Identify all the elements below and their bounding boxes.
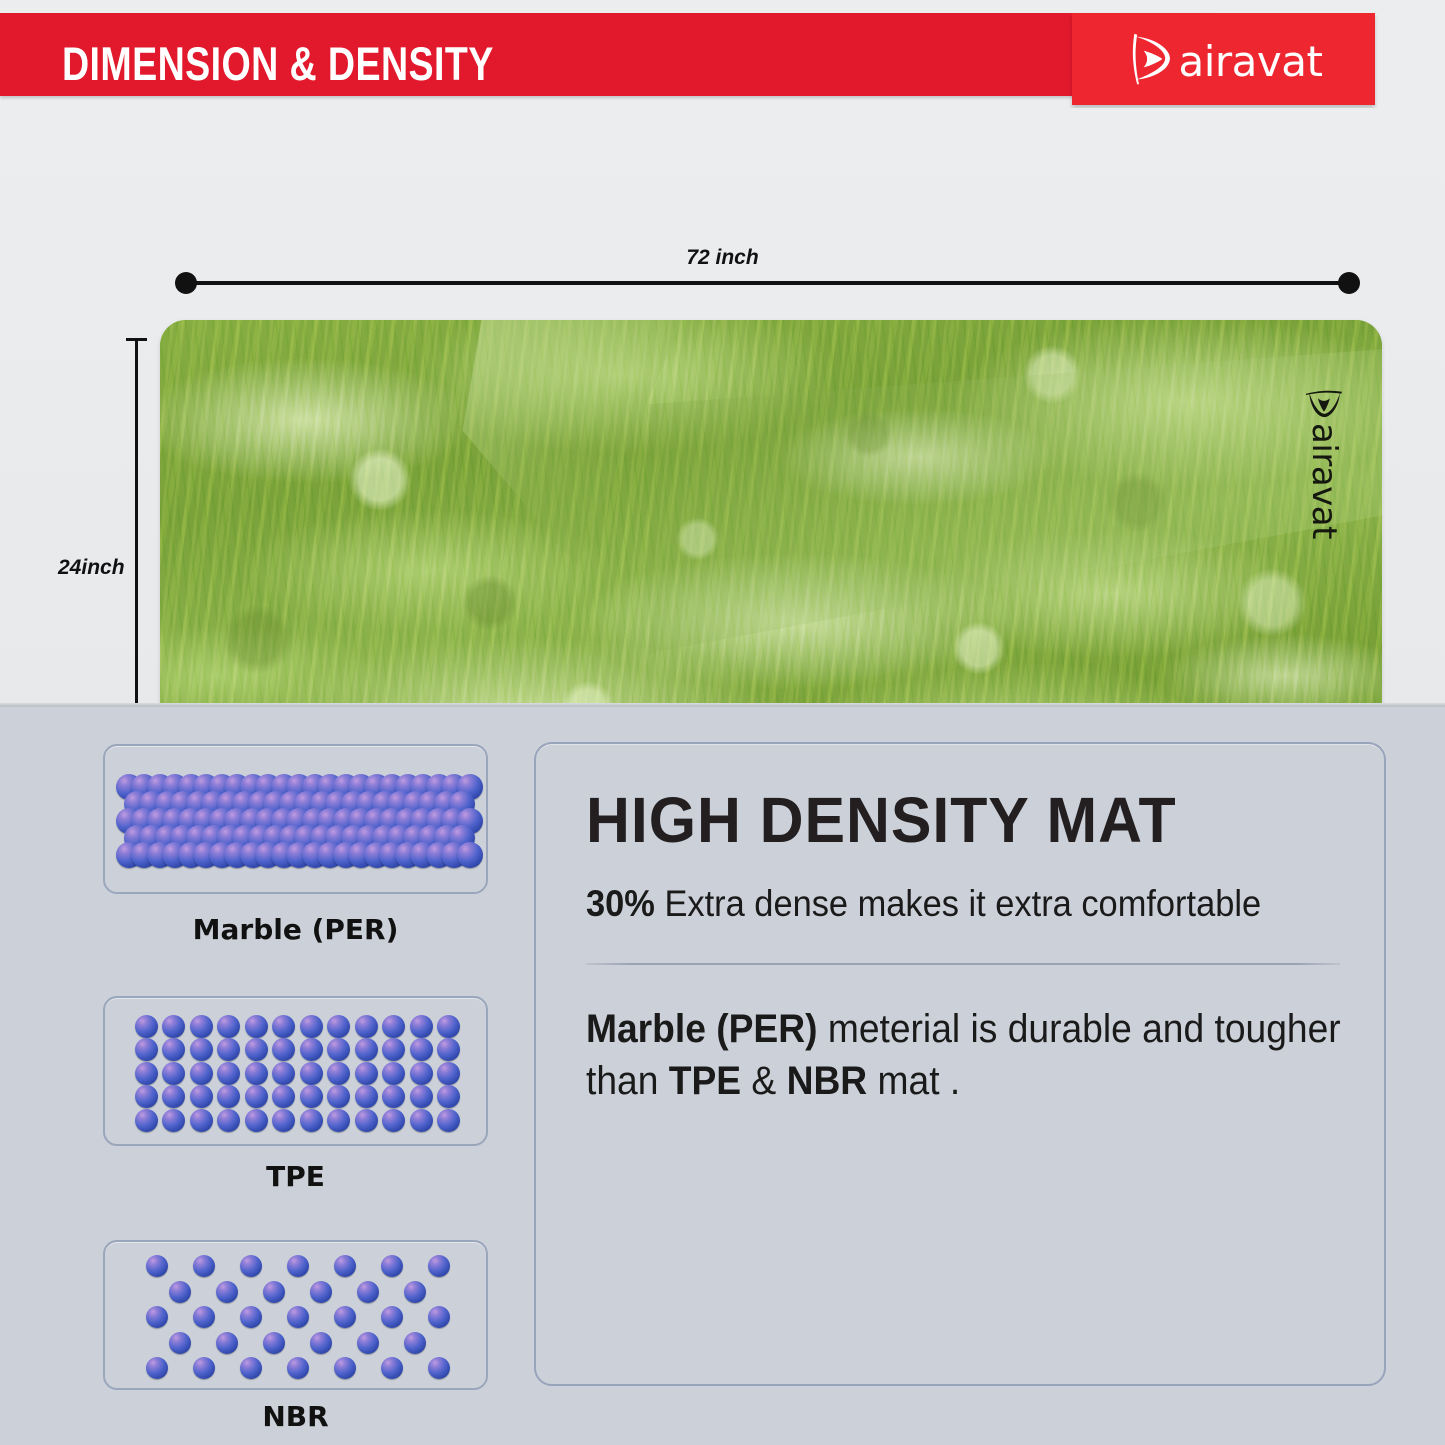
density-bead [382,1109,405,1132]
page-title: DIMENSION & DENSITY [62,36,494,91]
width-dimension-label: 72 inch [0,246,1445,270]
brand-logo-word: airavat [1179,37,1323,86]
density-bead [217,1062,240,1085]
density-bead [272,1062,295,1085]
density-bead [217,1085,240,1108]
mat-watermark-logo: airavat [1282,346,1366,578]
airavat-bow-icon [1303,385,1345,425]
density-bead [190,1109,213,1132]
density-bead [381,1255,403,1277]
density-bead [382,1062,405,1085]
density-bead [404,1281,426,1303]
panel-para2-tail: mat . [867,1059,960,1103]
density-bead [410,1015,433,1038]
density-bead [216,1332,238,1354]
panel-divider [586,963,1340,965]
density-bead [193,1255,215,1277]
density-bead [272,1109,295,1132]
density-bead [169,1281,191,1303]
density-bead [190,1062,213,1085]
density-card-marble [103,744,488,894]
density-bead [245,1015,268,1038]
density-bead [300,1085,323,1108]
density-bead [245,1085,268,1108]
density-bead [410,1085,433,1108]
panel-paragraph-one: 30% Extra dense makes it extra comfortab… [586,880,1343,927]
airavat-bow-icon [1125,30,1181,88]
density-bead [382,1015,405,1038]
density-bead [310,1281,332,1303]
density-bead [287,1255,309,1277]
panel-para2-mid2: & [741,1059,786,1103]
density-bead [162,1085,185,1108]
density-bead [272,1038,295,1061]
density-bead [428,1306,450,1328]
density-bead [382,1038,405,1061]
density-card-tpe [103,996,488,1146]
density-bead [146,1306,168,1328]
density-bead [334,1255,356,1277]
density-bead [162,1038,185,1061]
mat-watermark-word: airavat [1304,423,1344,539]
bead-field-nbr [105,1242,486,1388]
density-label-marble: Marble (PER) [103,913,488,946]
panel-paragraph-two: Marble (PER) meterial is durable and tou… [586,1003,1343,1107]
density-bead [355,1085,378,1108]
density-bead [263,1332,285,1354]
width-dimension-line [184,281,1348,285]
header-zone: DIMENSION & DENSITY airavat [0,0,1445,108]
density-bead [135,1015,158,1038]
density-bead [135,1038,158,1061]
dimension-section: 72 inch 24inch airavat [0,108,1445,705]
density-bead [355,1038,378,1061]
density-bead [310,1332,332,1354]
density-bead [216,1281,238,1303]
density-bead [437,1015,460,1038]
density-bead [193,1306,215,1328]
density-label-tpe: TPE [103,1160,488,1193]
density-bead [190,1015,213,1038]
density-bead [381,1357,403,1379]
density-bead [135,1109,158,1132]
density-bead [327,1109,350,1132]
density-bead [245,1038,268,1061]
density-bead [193,1357,215,1379]
density-bead [437,1109,460,1132]
brand-logo: airavat [1072,13,1375,105]
density-bead [410,1038,433,1061]
density-bead [300,1109,323,1132]
density-bead [355,1109,378,1132]
density-bead [428,1255,450,1277]
density-bead [327,1062,350,1085]
density-bead [287,1357,309,1379]
header-red-bar: DIMENSION & DENSITY [0,13,1215,96]
density-bead [300,1062,323,1085]
density-bead [428,1357,450,1379]
density-bead [410,1062,433,1085]
density-bead [217,1109,240,1132]
density-bead [357,1332,379,1354]
density-bead [135,1062,158,1085]
density-bead [327,1038,350,1061]
density-bead [272,1015,295,1038]
density-bead [327,1015,350,1038]
panel-title: HIGH DENSITY MAT [586,788,1302,852]
bead-field-marble [105,746,486,892]
density-bead [263,1281,285,1303]
density-bead [334,1357,356,1379]
panel-para2-tpe: TPE [669,1059,741,1103]
density-bead [287,1306,309,1328]
density-label-nbr: NBR [103,1400,488,1433]
density-bead [300,1038,323,1061]
panel-para2-nbr: NBR [787,1059,868,1103]
panel-para1-text: Extra dense makes it extra comfortable [655,883,1261,924]
panel-para2-marble: Marble (PER) [586,1007,818,1051]
density-bead [245,1062,268,1085]
density-bead [245,1109,268,1132]
density-bead [437,1038,460,1061]
density-bead [169,1332,191,1354]
panel-para1-highlight: 30% [586,883,655,924]
density-bead [135,1085,158,1108]
density-bead [437,1062,460,1085]
width-dimension-endpoint-right [1338,272,1360,294]
density-bead [146,1255,168,1277]
height-dimension-label: 24inch [58,556,125,580]
density-bead [190,1085,213,1108]
density-bead [355,1015,378,1038]
density-bead [357,1281,379,1303]
density-bead [382,1085,405,1108]
density-bead [162,1109,185,1132]
density-bead [410,1109,433,1132]
bead-field-tpe [105,998,486,1144]
density-bead [327,1085,350,1108]
density-bead [272,1085,295,1108]
density-bead [217,1038,240,1061]
density-bead [355,1062,378,1085]
density-bead [457,842,483,868]
density-bead [146,1357,168,1379]
density-bead [240,1255,262,1277]
density-bead [240,1306,262,1328]
density-bead [334,1306,356,1328]
density-card-nbr [103,1240,488,1390]
density-bead [217,1015,240,1038]
density-bead [300,1015,323,1038]
density-bead [190,1038,213,1061]
density-bead [162,1015,185,1038]
height-dimension-cap-top [126,338,147,341]
density-bead [240,1357,262,1379]
density-bead [404,1332,426,1354]
width-dimension-endpoint-left [175,272,197,294]
density-bead [381,1306,403,1328]
high-density-text-panel: HIGH DENSITY MAT 30% Extra dense makes i… [534,742,1386,1386]
density-bead [162,1062,185,1085]
density-bead [437,1085,460,1108]
